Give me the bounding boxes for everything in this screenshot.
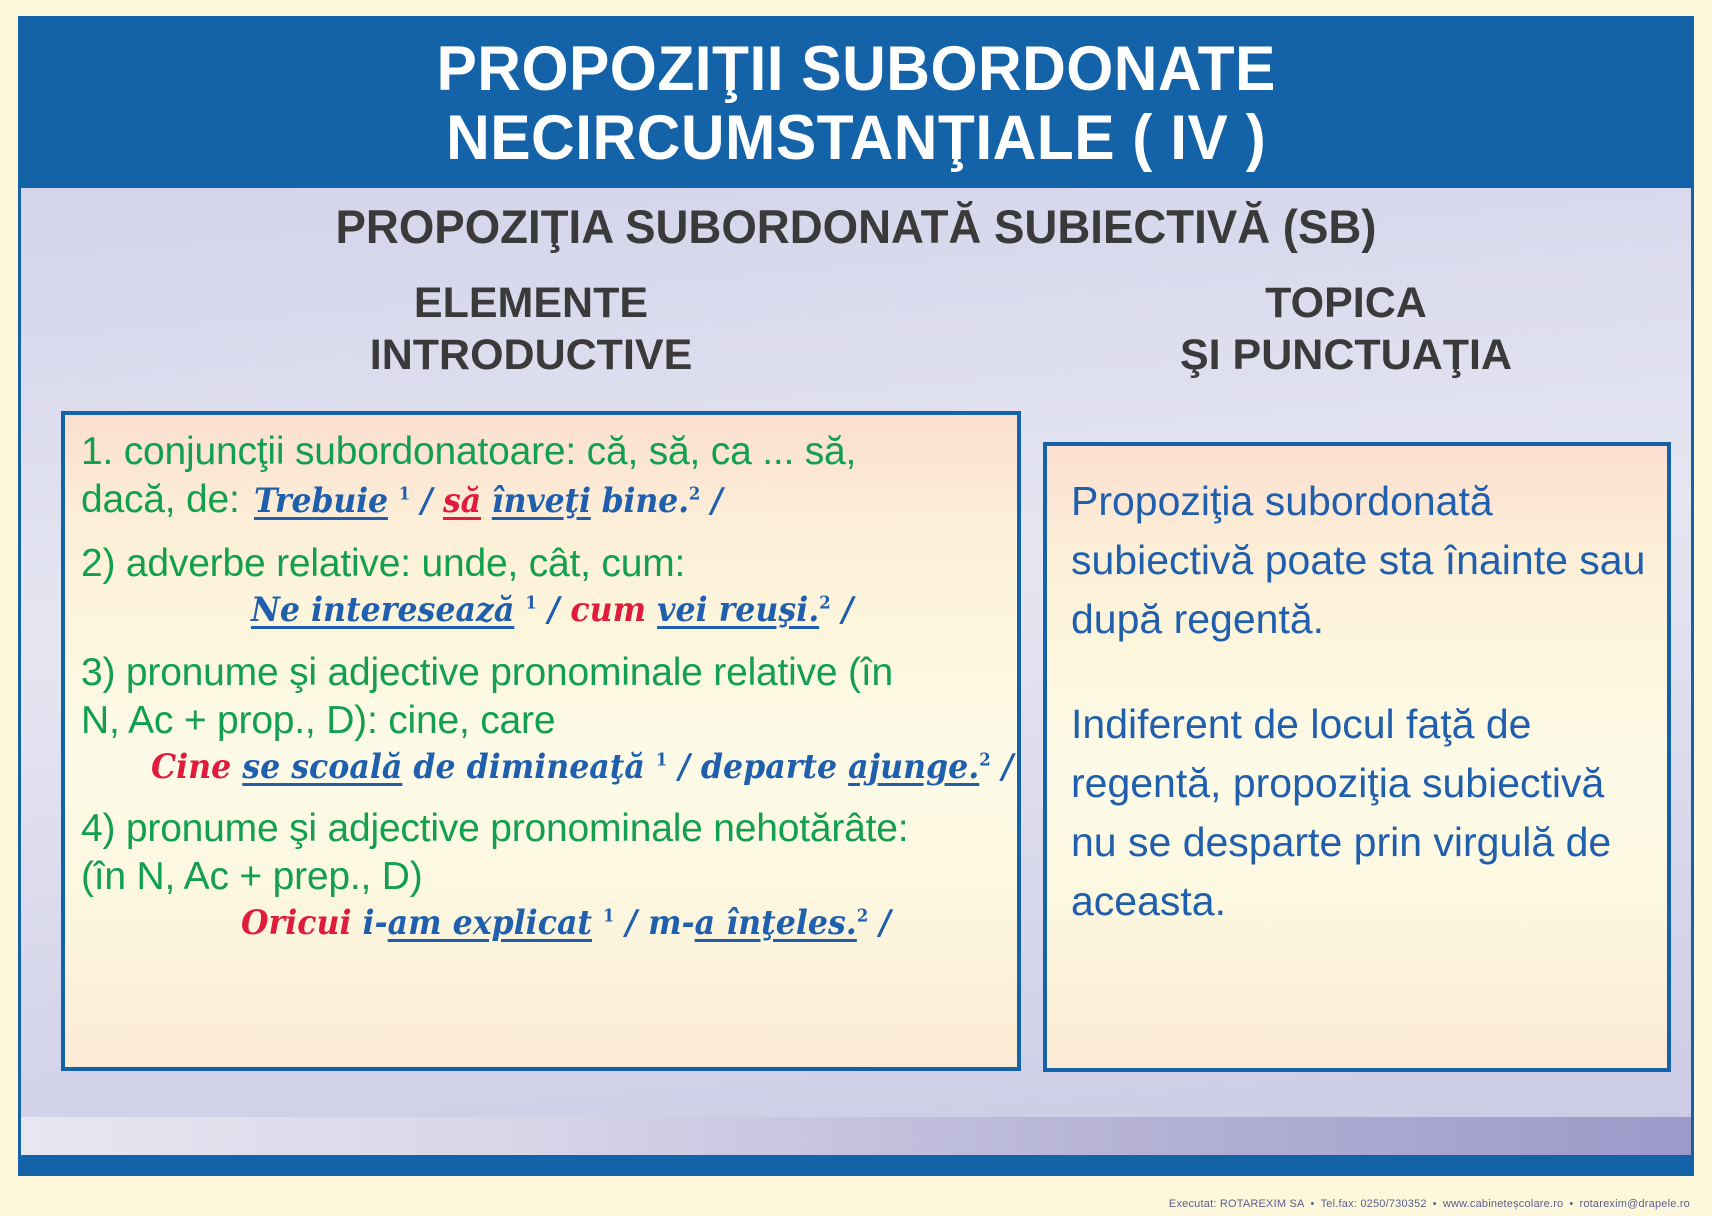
title-line-1: PROPOZIŢII SUBORDONATE (436, 35, 1275, 103)
example-2: Ne interesează 1 / cum vei reuşi.2 / (251, 589, 853, 632)
right-column-heading-line-2: ŞI PUNCTUAŢIA (1026, 329, 1666, 381)
rule-item-3: 3) pronume şi adjective pronominale rela… (81, 650, 1001, 789)
rule-item-4-line-1: 4) pronume şi adjective pronominale neho… (81, 806, 1001, 852)
topica-punctuatia-panel: Propoziţia subordonată subiectivă poate … (1043, 442, 1671, 1072)
rule-item-3-line-1: 3) pronume şi adjective pronominale rela… (81, 650, 1001, 696)
footer-phone: Tel.fax: 0250/730352 (1321, 1198, 1427, 1210)
right-column-heading-line-1: TOPICA (1026, 277, 1666, 329)
bottom-blue-strip (21, 1155, 1691, 1173)
example-1: Trebuie 1 / să înveţi bine.2 / (254, 480, 722, 523)
rule-item-2: 2) adverbe relative: unde, cât, cum: Ne … (81, 541, 1001, 632)
footer-executant: Executat: ROTAREXIM SA (1169, 1198, 1305, 1210)
footer-separator-1: • (1305, 1198, 1321, 1210)
footer-separator-3: • (1563, 1198, 1579, 1210)
example-2-row: Ne interesează 1 / cum vei reuşi.2 / (81, 589, 1001, 632)
left-column-heading-line-1: ELEMENTE (51, 277, 1011, 329)
example-4: Oricui i-am explicat 1 / m-a înţeles.2 / (241, 902, 891, 945)
rule-item-1-line-1: 1. conjuncţii subordonatoare: că, să, ca… (81, 429, 1001, 475)
topica-paragraph-2: Indiferent de locul faţă de regentă, pro… (1071, 695, 1649, 931)
poster-frame: PROPOZIŢII SUBORDONATE NECIRCUMSTANŢIALE… (18, 16, 1694, 1176)
page-subtitle: PROPOZIŢIA SUBORDONATĂ SUBIECTIVĂ (SB) (46, 199, 1666, 254)
title-line-2: NECIRCUMSTANŢIALE ( IV ) (446, 104, 1266, 172)
title-bar: PROPOZIŢII SUBORDONATE NECIRCUMSTANŢIALE… (21, 19, 1691, 188)
rule-item-4-line-2: (în N, Ac + prep., D) (81, 854, 1001, 900)
footer-email: rotarexim@drapele.ro (1579, 1198, 1690, 1210)
example-4-row: Oricui i-am explicat 1 / m-a înţeles.2 / (81, 902, 1001, 945)
rule-item-1-line-2: dacă, de:Trebuie 1 / să înveţi bine.2 / (81, 477, 1001, 523)
rule-item-2-line-1: 2) adverbe relative: unde, cât, cum: (81, 541, 1001, 587)
poster-page: PROPOZIŢII SUBORDONATE NECIRCUMSTANŢIALE… (0, 0, 1712, 1216)
topica-paragraph-1: Propoziţia subordonată subiectivă poate … (1071, 472, 1649, 649)
footer-separator-2: • (1427, 1198, 1443, 1210)
rule-item-3-line-2: N, Ac + prop., D): cine, care (81, 698, 1001, 744)
left-column-heading-line-2: INTRODUCTIVE (51, 329, 1011, 381)
elemente-introductive-panel: 1. conjuncţii subordonatoare: că, să, ca… (61, 411, 1021, 1071)
rule-item-4: 4) pronume şi adjective pronominale neho… (81, 806, 1001, 945)
rule-item-1-line-2-label: dacă, de: (81, 478, 240, 521)
left-column-heading: ELEMENTE INTRODUCTIVE (51, 277, 1011, 382)
footer-website: www.cabineteșcolare.ro (1443, 1198, 1564, 1210)
rule-item-1: 1. conjuncţii subordonatoare: că, să, ca… (81, 429, 1001, 523)
column-headings: ELEMENTE INTRODUCTIVE TOPICA ŞI PUNCTUAŢ… (21, 277, 1691, 397)
bottom-gradient-strip (21, 1117, 1691, 1155)
example-3-row: Cine se scoală de dimineaţă 1 / departe … (81, 746, 1001, 789)
example-3: Cine se scoală de dimineaţă 1 / departe … (151, 746, 1013, 789)
footer-credit: Executat: ROTAREXIM SA•Tel.fax: 0250/730… (1169, 1198, 1690, 1210)
right-column-heading: TOPICA ŞI PUNCTUAŢIA (1026, 277, 1666, 382)
